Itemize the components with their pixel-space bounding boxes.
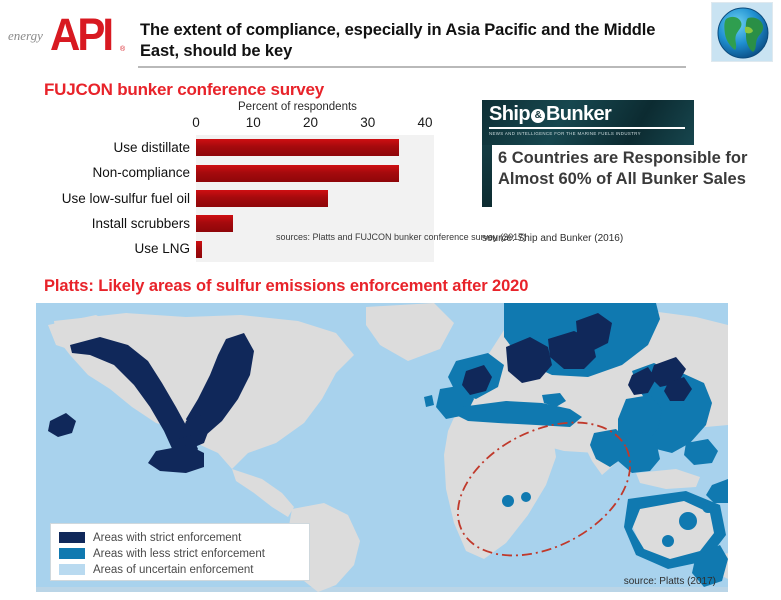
chart-category-label: Non-compliance — [0, 165, 190, 180]
logo-word-bunker: Bunker — [546, 103, 611, 125]
slide-root: energy API ® The extent of compliance, e… — [0, 0, 781, 600]
map-title: Platts: Likely areas of sulfur emissions… — [44, 277, 528, 296]
chart-category-label: Install scrubbers — [0, 216, 190, 231]
api-energy-word: energy — [8, 28, 43, 44]
chart-category-label: Use low-sulfur fuel oil — [0, 191, 190, 206]
chart-title: FUJCON bunker conference survey — [44, 80, 324, 100]
legend-label: Areas with less strict enforcement — [93, 548, 265, 560]
logo-ampersand-icon: & — [531, 109, 545, 123]
chart-bar — [196, 165, 399, 182]
chart-bar — [196, 139, 399, 156]
x-tick-label: 30 — [360, 115, 375, 130]
legend-label: Areas of uncertain enforcement — [93, 564, 253, 576]
chart-bar — [196, 190, 328, 207]
enforcement-map: Areas with strict enforcementAreas with … — [36, 303, 728, 592]
logo-word-ship: Ship — [489, 103, 530, 125]
x-tick-label: 0 — [192, 115, 200, 130]
slide-header: energy API ® The extent of compliance, e… — [0, 0, 781, 72]
page-title: The extent of compliance, especially in … — [140, 20, 685, 62]
header-divider — [138, 66, 686, 68]
map-legend-item: Areas with less strict enforcement — [59, 546, 301, 561]
logo-underline — [489, 127, 685, 129]
legend-color-swatch — [59, 548, 85, 559]
legend-color-swatch — [59, 532, 85, 543]
x-tick-label: 10 — [246, 115, 261, 130]
globe-icon — [711, 2, 773, 62]
ship-bunker-headline: 6 Countries are Responsible for Almost 6… — [498, 148, 754, 190]
map-legend-item: Areas of uncertain enforcement — [59, 562, 301, 577]
chart-bar — [196, 241, 202, 258]
legend-label: Areas with strict enforcement — [93, 532, 241, 544]
ship-bunker-tagline: NEWS AND INTELLIGENCE FOR THE MARINE FUE… — [489, 131, 641, 137]
ship-bunker-left-rail — [482, 145, 492, 207]
map-legend: Areas with strict enforcementAreas with … — [50, 523, 310, 581]
x-tick-label: 40 — [417, 115, 432, 130]
ship-bunker-logo: Ship&Bunker NEWS AND INTELLIGENCE FOR TH… — [482, 100, 694, 145]
chart-category-label: Use distillate — [0, 140, 190, 155]
api-logo: energy API ® — [8, 14, 128, 60]
ship-bunker-logo-text: Ship&Bunker — [489, 103, 611, 126]
chart-category-label: Use LNG — [0, 241, 190, 256]
legend-color-swatch — [59, 564, 85, 575]
map-source-note: source: Platts (2017) — [624, 576, 716, 587]
chart-x-axis-ticks: 010203040 — [190, 115, 440, 133]
chart-category-labels: Use distillateNon-complianceUse low-sulf… — [0, 135, 190, 262]
chart-bar — [196, 215, 233, 232]
api-wordmark: API — [50, 12, 111, 57]
api-registered-mark: ® — [120, 46, 125, 53]
ship-bunker-panel: Ship&Bunker NEWS AND INTELLIGENCE FOR TH… — [482, 100, 754, 223]
map-legend-item: Areas with strict enforcement — [59, 530, 301, 545]
x-tick-label: 20 — [303, 115, 318, 130]
chart-axis-title: Percent of respondents — [238, 101, 357, 113]
ship-bunker-source-note: source: Ship and Bunker (2016) — [482, 233, 623, 244]
